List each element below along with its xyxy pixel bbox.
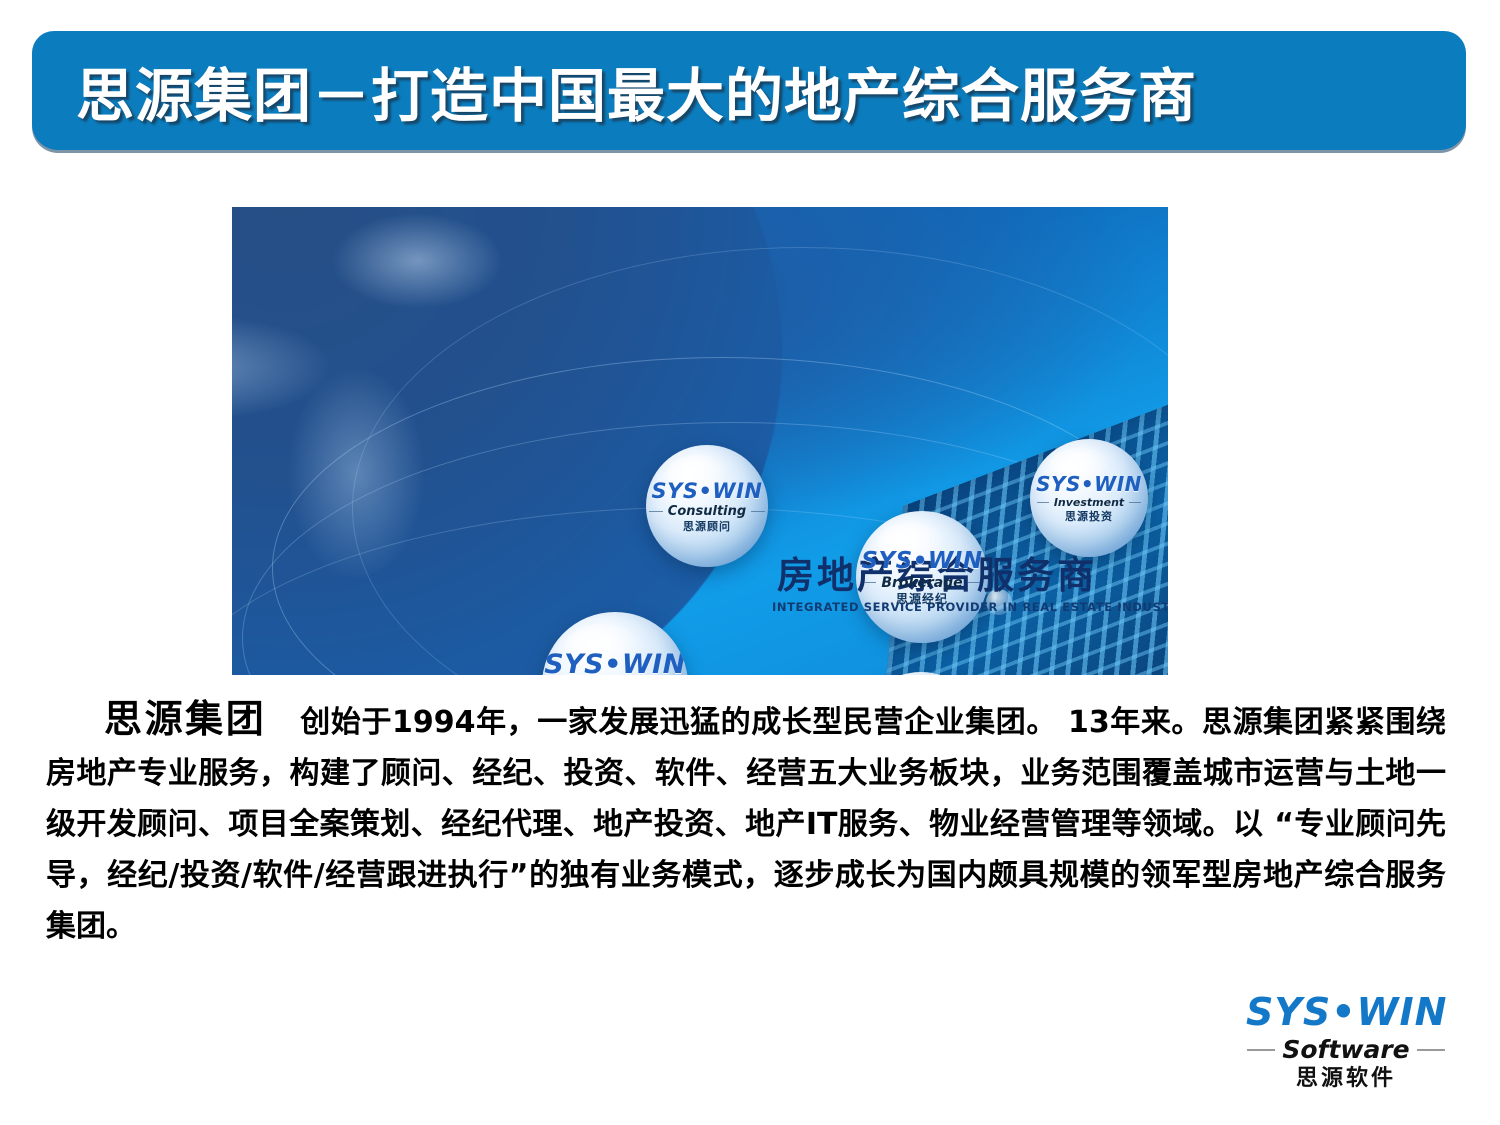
sphere-unit-row: Brokerage bbox=[864, 576, 979, 590]
sphere-brand: SYS•WIN bbox=[652, 481, 763, 502]
rule-left-icon bbox=[1037, 502, 1049, 503]
footer-logo: SYS•WIN Software 思源软件 bbox=[1246, 993, 1446, 1090]
sphere-consulting: SYS•WIN Consulting 思源顾问 bbox=[646, 445, 768, 567]
sphere-unit-row: Consulting bbox=[649, 505, 765, 518]
sphere-unit-en: Investment bbox=[1054, 497, 1124, 508]
rule-right-icon bbox=[751, 511, 765, 512]
slide-title-bar: 思源集团－打造中国最大的地产综合服务商 bbox=[32, 31, 1466, 150]
rule-right-icon bbox=[968, 582, 980, 583]
rule-left-icon bbox=[1247, 1049, 1275, 1051]
footer-logo-division-cn: 思源软件 bbox=[1246, 1068, 1446, 1090]
footer-logo-division-en: Software bbox=[1282, 1037, 1409, 1062]
page-title: 思源集团－打造中国最大的地产综合服务商 bbox=[76, 49, 1197, 133]
sphere-unit-cn: 思源经纪 bbox=[896, 593, 948, 605]
sphere-unit-cn: 思源顾问 bbox=[683, 521, 731, 532]
sphere-unit-row: Investment bbox=[1037, 497, 1141, 508]
footer-logo-division-row: Software bbox=[1246, 1037, 1446, 1062]
hero-image: SYS•WIN Group 思源集团 SYS•WIN Consulting 思源… bbox=[232, 207, 1168, 675]
sphere-investment: SYS•WIN Investment 思源投资 bbox=[1030, 439, 1148, 557]
sphere-brand: SYS•WIN bbox=[861, 550, 982, 573]
sphere-unit-en: Brokerage bbox=[881, 576, 962, 590]
sphere-brand: SYS•WIN bbox=[544, 651, 686, 675]
sphere-unit-cn: 思源投资 bbox=[1065, 511, 1113, 522]
rule-left-icon bbox=[649, 511, 663, 512]
rule-right-icon bbox=[1129, 502, 1141, 503]
sphere-brokerage: SYS•WIN Brokerage 思源经纪 bbox=[856, 511, 988, 643]
rule-right-icon bbox=[1417, 1049, 1445, 1051]
sphere-brand: SYS•WIN bbox=[1036, 474, 1142, 494]
rule-left-icon bbox=[864, 582, 876, 583]
body-paragraph: 思源集团创始于1994年，一家发展迅猛的成长型民营企业集团。 13年来。思源集团… bbox=[46, 694, 1446, 952]
footer-logo-brand: SYS•WIN bbox=[1246, 993, 1446, 1031]
body-lead: 思源集团 bbox=[46, 697, 300, 741]
sphere-unit-en: Consulting bbox=[668, 505, 746, 518]
